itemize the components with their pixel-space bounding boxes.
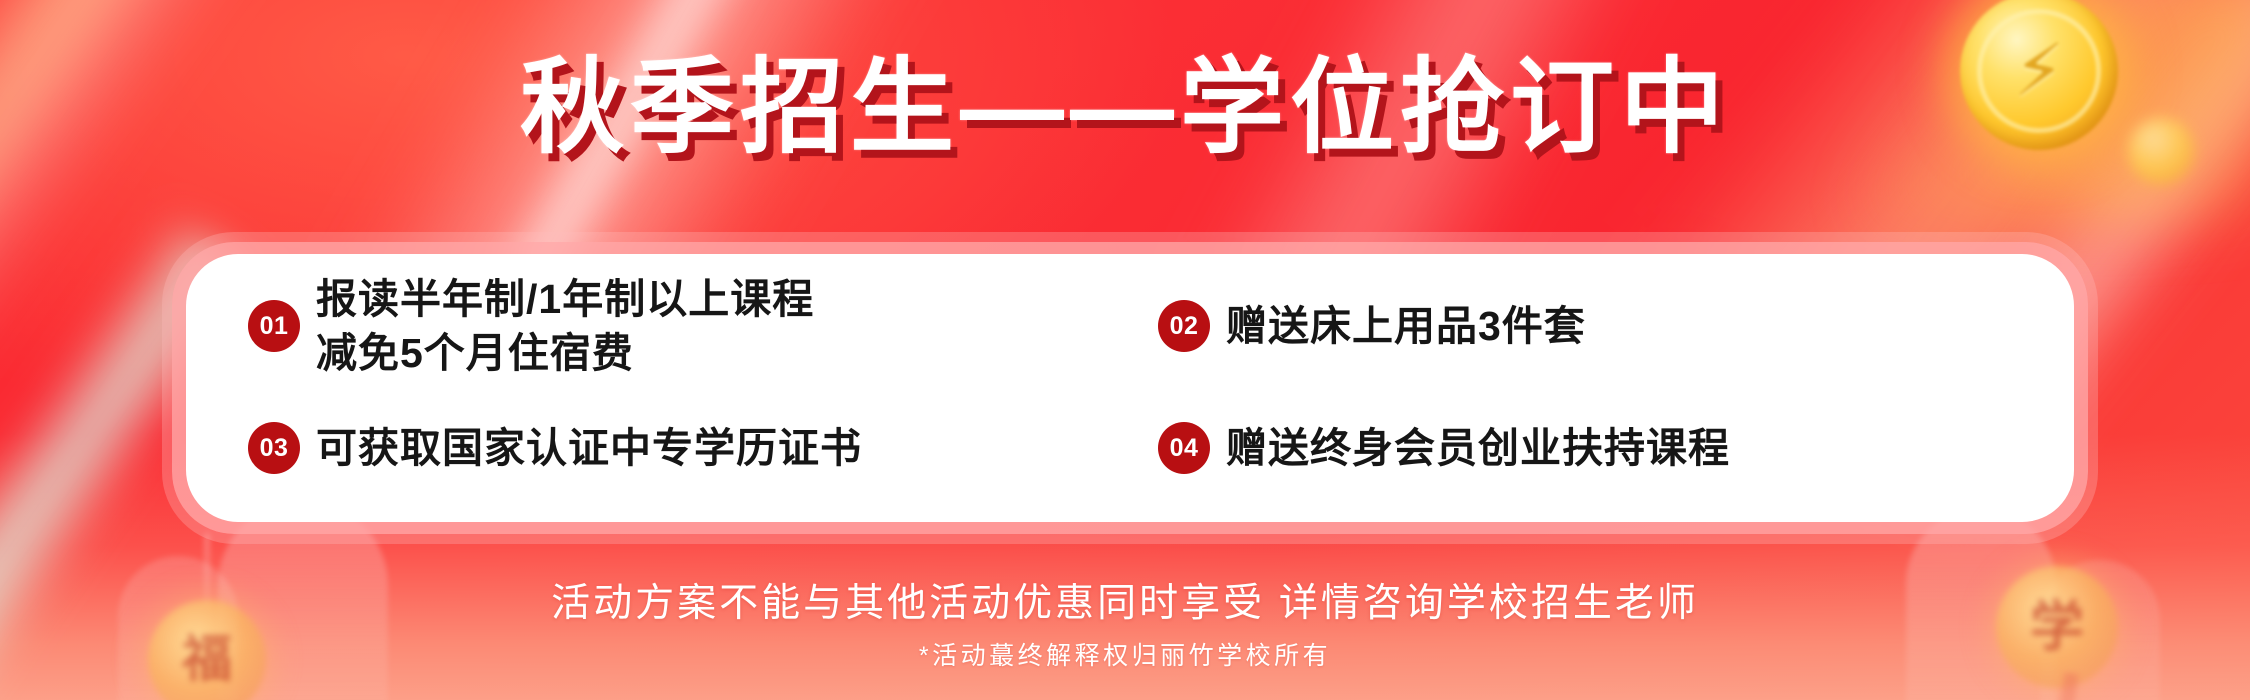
ornament-handle [2054, 673, 2079, 700]
benefit-item-03: 03 可获取国家认证中专学历证书 [186, 388, 1130, 522]
benefit-line-1: 报读半年制/1年制以上课程 [316, 276, 814, 322]
benefit-line-1: 赠送床上用品3件套 [1226, 303, 1586, 349]
promo-banner: ⚡ 福 学 秋季招生——学位抢订中 01 报读半年制/1年制以上课程 减免5个月… [0, 0, 2250, 700]
benefit-text-02: 赠送床上用品3件套 [1226, 299, 1586, 353]
benefit-badge-02: 02 [1158, 300, 1210, 352]
benefit-item-01: 01 报读半年制/1年制以上课程 减免5个月住宿费 [186, 254, 1130, 388]
benefit-item-04: 04 赠送终身会员创业扶持课程 [1130, 388, 2074, 522]
banner-title: 秋季招生——学位抢订中 [0, 22, 2250, 173]
benefit-badge-01: 01 [248, 300, 300, 352]
benefit-text-01: 报读半年制/1年制以上课程 减免5个月住宿费 [316, 272, 814, 380]
benefits-card: 01 报读半年制/1年制以上课程 减免5个月住宿费 02 赠送床上用品3件套 0… [186, 254, 2074, 522]
benefit-line-1: 赠送终身会员创业扶持课程 [1226, 425, 1730, 471]
benefit-item-02: 02 赠送床上用品3件套 [1130, 254, 2074, 388]
footer-fineprint: *活动蕞终解释权归丽竹学校所有 [0, 636, 2250, 672]
benefit-badge-04: 04 [1158, 422, 1210, 474]
benefit-badge-03: 03 [248, 422, 300, 474]
benefit-line-1: 可获取国家认证中专学历证书 [316, 425, 862, 471]
footer-note: 活动方案不能与其他活动优惠同时享受 详情咨询学校招生老师 [0, 572, 2250, 628]
benefit-text-04: 赠送终身会员创业扶持课程 [1226, 421, 1730, 475]
benefit-text-03: 可获取国家认证中专学历证书 [316, 421, 862, 475]
benefit-line-2: 减免5个月住宿费 [316, 326, 814, 380]
